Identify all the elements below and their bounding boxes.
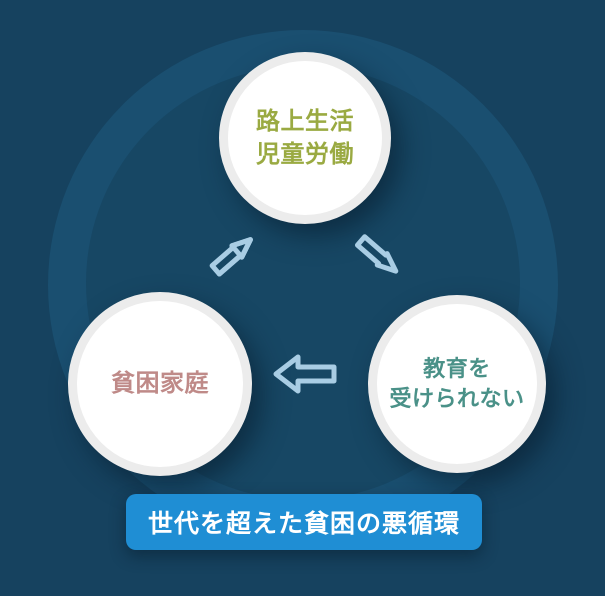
poverty-cycle-diagram: 路上生活 児童労働 貧困家庭 教育を 受けられない 世代: [0, 0, 605, 596]
caption-banner[interactable]: 世代を超えた貧困の悪循環: [126, 494, 482, 550]
arrow-down-right-icon: [344, 224, 412, 286]
node-poor-household[interactable]: 貧困家庭: [68, 292, 252, 476]
caption-label: 世代を超えた貧困の悪循環: [148, 504, 460, 540]
node-right-line-2: 受けられない: [389, 384, 524, 414]
node-top-line-1: 路上生活: [256, 105, 354, 138]
node-right-line-1: 教育を: [423, 354, 491, 384]
arrow-up-right-icon: [198, 224, 266, 286]
arrow-left-icon: [266, 348, 344, 400]
node-left-line-1: 貧困家庭: [111, 367, 209, 400]
node-street-life-child-labor[interactable]: 路上生活 児童労働: [219, 52, 391, 224]
node-no-education[interactable]: 教育を 受けられない: [368, 295, 546, 473]
node-top-line-2: 児童労働: [256, 138, 354, 171]
